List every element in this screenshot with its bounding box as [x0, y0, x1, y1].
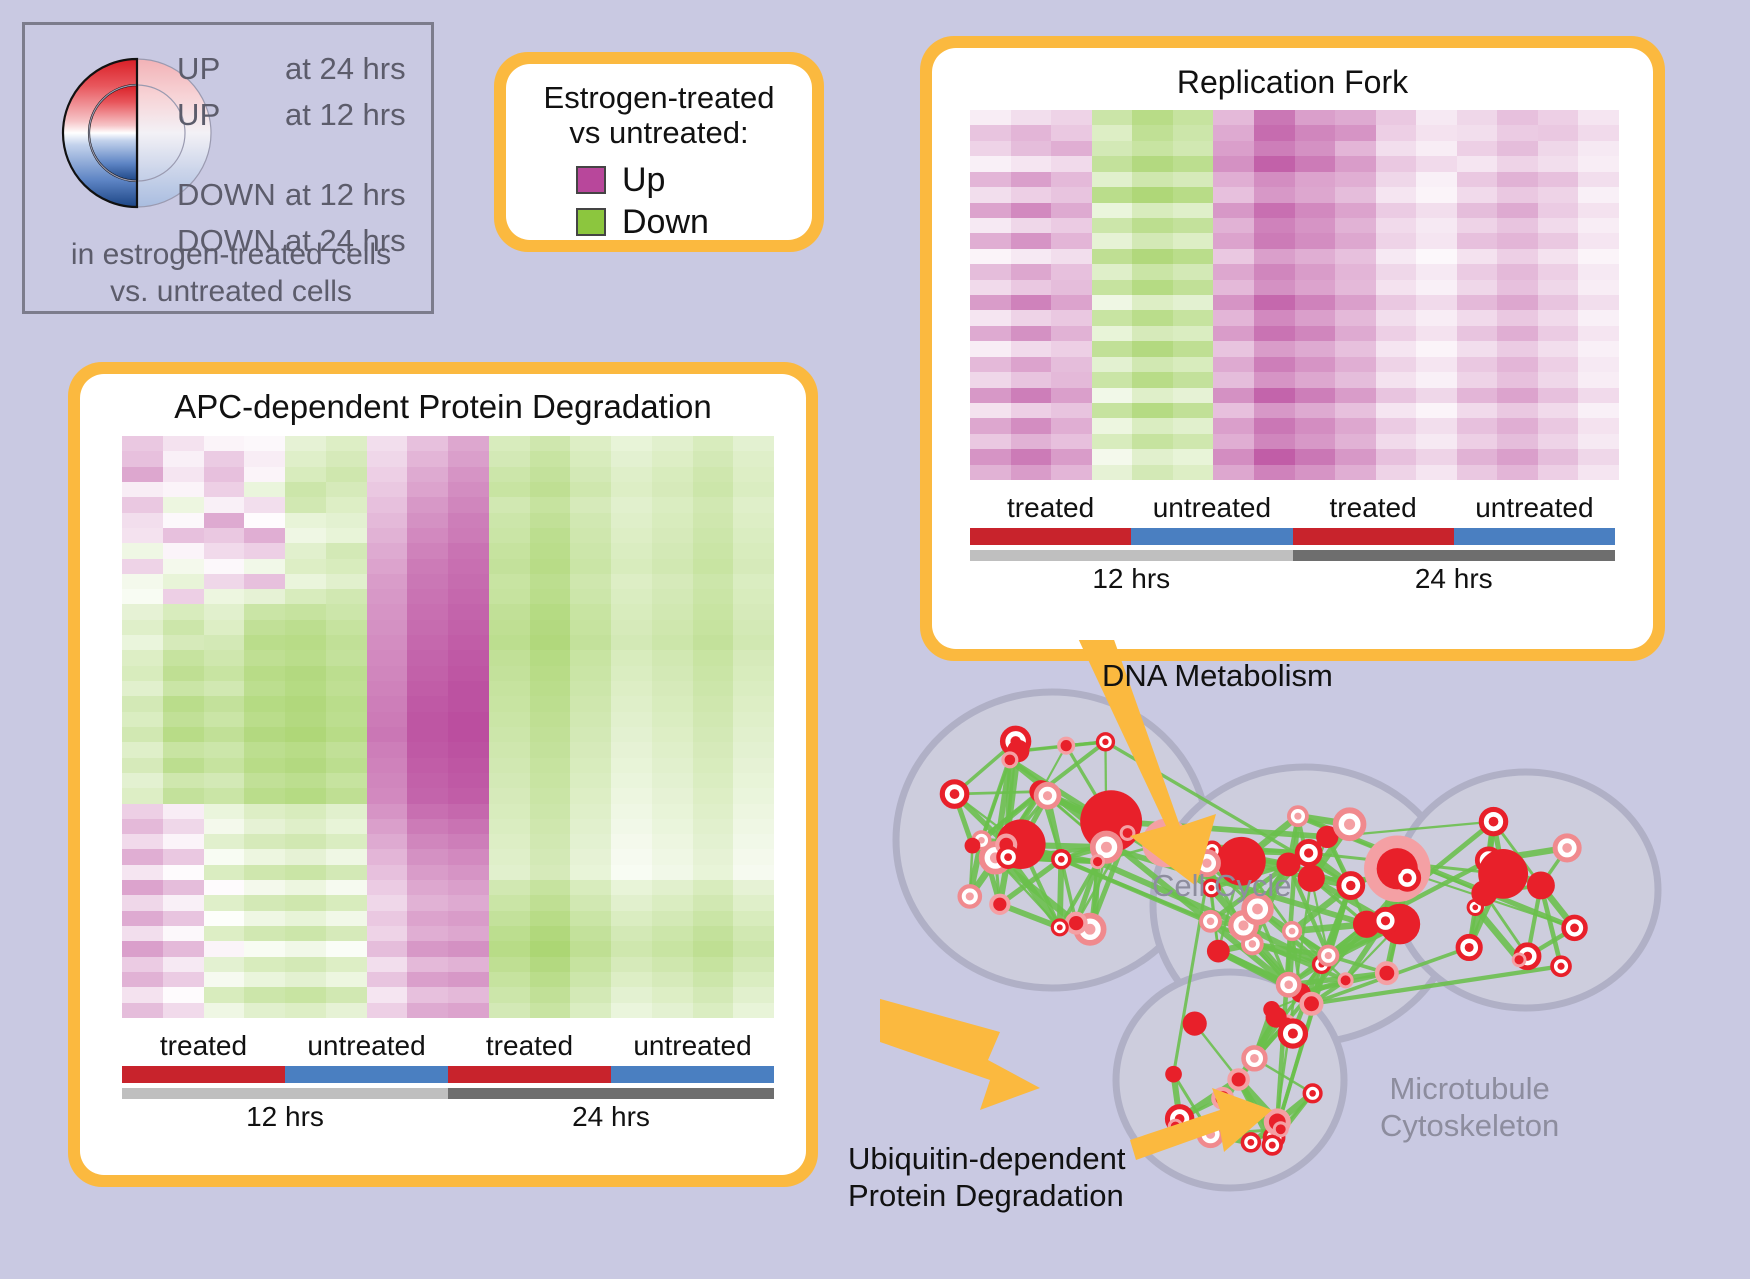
- network-node[interactable]: [1298, 865, 1325, 892]
- network-node-core: [1570, 924, 1579, 933]
- heatmap-cell: [326, 926, 367, 941]
- heatmap-cell: [970, 434, 1011, 449]
- heatmap-cell: [1213, 249, 1254, 264]
- heatmap-cell: [1254, 418, 1295, 433]
- network-node[interactable]: [1304, 996, 1319, 1011]
- heatmap-cell: [1538, 295, 1579, 310]
- heatmap-cell: [1092, 326, 1133, 341]
- heatmap-cell: [1578, 449, 1619, 464]
- heatmap-row: [970, 125, 1619, 140]
- replication-group-labels: treated untreated treated untreated: [970, 492, 1615, 524]
- heatmap-cell: [489, 451, 530, 466]
- heatmap-cell: [285, 804, 326, 819]
- heatmap-cell: [163, 972, 204, 987]
- heatmap-cell: [1497, 449, 1538, 464]
- heatmap-cell: [1254, 203, 1295, 218]
- heatmap-cell: [1335, 187, 1376, 202]
- heatmap-cell: [367, 666, 408, 681]
- heatmap-cell: [489, 834, 530, 849]
- heatmap-cell: [285, 482, 326, 497]
- heatmap-cell: [611, 635, 652, 650]
- heatmap-cell: [611, 482, 652, 497]
- network-node-core: [1247, 1139, 1254, 1146]
- heatmap-cell: [1376, 326, 1417, 341]
- heatmap-cell: [163, 941, 204, 956]
- network-node[interactable]: [1379, 966, 1394, 981]
- heatmap-cell: [244, 681, 285, 696]
- heatmap-cell: [1578, 203, 1619, 218]
- network-node-core: [1309, 1090, 1316, 1097]
- heatmap-cell: [1295, 233, 1336, 248]
- heatmap-cell: [530, 834, 571, 849]
- heatmap-cell: [448, 635, 489, 650]
- heatmap-cell: [1416, 218, 1457, 233]
- network-node[interactable]: [1061, 740, 1072, 751]
- heatmap-cell: [163, 666, 204, 681]
- heatmap-row: [970, 172, 1619, 187]
- heatmap-cell: [1538, 465, 1579, 480]
- heatmap-cell: [733, 482, 774, 497]
- heatmap-row: [970, 187, 1619, 202]
- heatmap-cell: [693, 758, 734, 773]
- network-node[interactable]: [1386, 860, 1403, 877]
- heatmap-cell: [733, 987, 774, 1002]
- heatmap-cell: [1132, 449, 1173, 464]
- cluster-label-dna-metabolism: DNA Metabolism: [1102, 658, 1333, 694]
- heatmap-cell: [1376, 403, 1417, 418]
- heatmap-cell: [1295, 434, 1336, 449]
- heatmap-cell: [652, 941, 693, 956]
- heatmap-cell: [1173, 434, 1214, 449]
- heatmap-cell: [693, 574, 734, 589]
- cluster-label-ubiquitin: Ubiquitin-dependent Protein Degradation: [848, 1140, 1126, 1214]
- heatmap-cell: [122, 926, 163, 941]
- network-node[interactable]: [1165, 1066, 1182, 1083]
- heatmap-cell: [122, 589, 163, 604]
- heatmap-cell: [1457, 326, 1498, 341]
- heatmap-cell: [1497, 125, 1538, 140]
- heatmap-cell: [611, 926, 652, 941]
- heatmap-cell: [285, 497, 326, 512]
- heatmap-cell: [570, 620, 611, 635]
- heatmap-cell: [652, 528, 693, 543]
- heatmap-cell: [448, 650, 489, 665]
- time-label-12: 12 hrs: [122, 1101, 448, 1133]
- heatmap-cell: [1132, 295, 1173, 310]
- heatmap-cell: [407, 895, 448, 910]
- heatmap-cell: [367, 972, 408, 987]
- heatmap-cell: [1578, 310, 1619, 325]
- heatmap-cell: [652, 895, 693, 910]
- heatmap-cell: [1173, 357, 1214, 372]
- heatmap-cell: [1254, 465, 1295, 480]
- heatmap-cell: [652, 804, 693, 819]
- heatmap-cell: [163, 482, 204, 497]
- heatmap-cell: [163, 574, 204, 589]
- heatmap-cell: [285, 834, 326, 849]
- heatmap-cell: [489, 712, 530, 727]
- heatmap-cell: [1376, 357, 1417, 372]
- heatmap-cell: [448, 742, 489, 757]
- heatmap-cell: [326, 513, 367, 528]
- network-node[interactable]: [1093, 857, 1102, 866]
- heatmap-cell: [489, 941, 530, 956]
- heatmap-cell: [285, 1003, 326, 1018]
- heatmap-cell: [204, 941, 245, 956]
- heatmap-cell: [244, 819, 285, 834]
- heatmap-cell: [1416, 249, 1457, 264]
- heatmap-cell: [122, 788, 163, 803]
- network-node-core: [1325, 952, 1332, 959]
- heatmap-cell: [1538, 110, 1579, 125]
- heatmap-cell: [652, 543, 693, 558]
- estrogen-legend-panel: Estrogen-treated vs untreated: Up Down: [494, 52, 824, 252]
- heatmap-cell: [122, 497, 163, 512]
- heatmap-cell: [1457, 434, 1498, 449]
- heatmap-cell: [1213, 125, 1254, 140]
- heatmap-cell: [367, 712, 408, 727]
- heatmap-cell: [1416, 403, 1457, 418]
- heatmap-cell: [1254, 372, 1295, 387]
- heatmap-cell: [367, 696, 408, 711]
- heatmap-row: [122, 620, 774, 635]
- heatmap-row: [122, 528, 774, 543]
- heatmap-cell: [970, 264, 1011, 279]
- heatmap-row: [122, 742, 774, 757]
- apc-treatment-bar: [122, 1066, 774, 1083]
- heatmap-cell: [1295, 156, 1336, 171]
- heatmap-cell: [204, 819, 245, 834]
- heatmap-cell: [611, 696, 652, 711]
- heatmap-cell: [163, 681, 204, 696]
- heatmap-cell: [163, 819, 204, 834]
- heatmap-cell: [1132, 156, 1173, 171]
- heatmap-cell: [407, 819, 448, 834]
- heatmap-cell: [326, 696, 367, 711]
- heatmap-cell: [570, 513, 611, 528]
- heatmap-cell: [204, 758, 245, 773]
- heatmap-cell: [1051, 465, 1092, 480]
- heatmap-cell: [611, 497, 652, 512]
- heatmap-cell: [1335, 249, 1376, 264]
- heatmap-cell: [244, 712, 285, 727]
- heatmap-cell: [1051, 295, 1092, 310]
- heatmap-cell: [733, 788, 774, 803]
- heatmap-cell: [1416, 449, 1457, 464]
- heatmap-cell: [970, 388, 1011, 403]
- heatmap-cell: [163, 528, 204, 543]
- heatmap-cell: [367, 727, 408, 742]
- heatmap-cell: [1213, 264, 1254, 279]
- heatmap-cell: [122, 467, 163, 482]
- heatmap-cell: [1578, 187, 1619, 202]
- heatmap-cell: [1011, 125, 1052, 140]
- heatmap-cell: [244, 804, 285, 819]
- network-node[interactable]: [993, 898, 1006, 911]
- heatmap-cell: [1173, 403, 1214, 418]
- heatmap-cell: [693, 788, 734, 803]
- heatmap-cell: [693, 819, 734, 834]
- heatmap-cell: [122, 451, 163, 466]
- heatmap-cell: [122, 482, 163, 497]
- heatmap-cell: [693, 926, 734, 941]
- heatmap-cell: [652, 865, 693, 880]
- heatmap-cell: [244, 635, 285, 650]
- heatmap-cell: [163, 727, 204, 742]
- pathway-network-diagram: DNA Metabolism Cell Cycle Microtubule Cy…: [880, 640, 1750, 1279]
- heatmap-cell: [733, 895, 774, 910]
- heatmap-cell: [570, 482, 611, 497]
- heatmap-cell: [693, 727, 734, 742]
- heatmap-cell: [244, 620, 285, 635]
- network-edge: [1060, 859, 1062, 927]
- heatmap-cell: [407, 865, 448, 880]
- heatmap-cell: [1051, 203, 1092, 218]
- heatmap-cell: [122, 727, 163, 742]
- heatmap-cell: [204, 880, 245, 895]
- heatmap-cell: [1173, 388, 1214, 403]
- heatmap-cell: [1051, 326, 1092, 341]
- heatmap-cell: [1376, 218, 1417, 233]
- heatmap-cell: [1254, 280, 1295, 295]
- heatmap-cell: [693, 911, 734, 926]
- figure-canvas: UP at 24 hrs UP at 12 hrs DOWN at 12 hrs…: [0, 0, 1750, 1279]
- heatmap-cell: [489, 681, 530, 696]
- bar-untreated-12: [285, 1066, 448, 1083]
- heatmap-cell: [1011, 187, 1052, 202]
- heatmap-cell: [1092, 233, 1133, 248]
- network-node[interactable]: [1527, 871, 1555, 899]
- bar-untreated-24: [611, 1066, 774, 1083]
- heatmap-cell: [407, 972, 448, 987]
- heatmap-cell: [489, 620, 530, 635]
- network-node[interactable]: [1471, 880, 1497, 906]
- heatmap-cell: [693, 451, 734, 466]
- heatmap-cell: [204, 834, 245, 849]
- heatmap-cell: [1457, 465, 1498, 480]
- heatmap-cell: [1132, 310, 1173, 325]
- heatmap-cell: [1254, 249, 1295, 264]
- heatmap-cell: [367, 987, 408, 1002]
- network-node-core: [1289, 928, 1296, 935]
- network-node[interactable]: [1341, 975, 1351, 985]
- network-node[interactable]: [1232, 1072, 1246, 1086]
- time-bar-24: [1293, 550, 1616, 561]
- network-node-core: [1294, 813, 1301, 820]
- heatmap-cell: [1011, 203, 1052, 218]
- heatmap-cell: [407, 727, 448, 742]
- group-label-untreated-24: untreated: [611, 1030, 774, 1062]
- network-node[interactable]: [1183, 1011, 1207, 1035]
- heatmap-cell: [530, 513, 571, 528]
- heatmap-cell: [326, 819, 367, 834]
- heatmap-cell: [244, 604, 285, 619]
- heatmap-row: [970, 218, 1619, 233]
- heatmap-cell: [1376, 187, 1417, 202]
- heatmap-cell: [1173, 372, 1214, 387]
- heatmap-cell: [489, 604, 530, 619]
- heatmap-cell: [530, 758, 571, 773]
- heatmap-cell: [204, 589, 245, 604]
- heatmap-cell: [1213, 203, 1254, 218]
- heatmap-cell: [489, 865, 530, 880]
- heatmap-cell: [652, 635, 693, 650]
- heatmap-cell: [1092, 264, 1133, 279]
- heatmap-cell: [244, 589, 285, 604]
- heatmap-row: [122, 589, 774, 604]
- heatmap-cell: [570, 880, 611, 895]
- heatmap-cell: [1457, 295, 1498, 310]
- heatmap-cell: [285, 635, 326, 650]
- heatmap-cell: [163, 849, 204, 864]
- network-node[interactable]: [1069, 916, 1083, 930]
- heatmap-cell: [652, 681, 693, 696]
- heatmap-cell: [1213, 465, 1254, 480]
- time-label-24: 24 hrs: [448, 1101, 774, 1133]
- heatmap-cell: [244, 650, 285, 665]
- heatmap-cell: [448, 482, 489, 497]
- network-node-core: [1101, 842, 1112, 853]
- heatmap-cell: [407, 482, 448, 497]
- heatmap-cell: [285, 543, 326, 558]
- heatmap-cell: [244, 941, 285, 956]
- network-node[interactable]: [1276, 1124, 1286, 1134]
- heatmap-cell: [326, 666, 367, 681]
- heatmap-cell: [244, 727, 285, 742]
- heatmap-cell: [1011, 141, 1052, 156]
- heatmap-cell: [693, 604, 734, 619]
- heatmap-cell: [1213, 326, 1254, 341]
- caption-line-2: vs. untreated cells: [25, 274, 437, 311]
- network-node-core: [1465, 943, 1474, 952]
- heatmap-cell: [407, 589, 448, 604]
- heatmap-cell: [693, 865, 734, 880]
- heatmap-cell: [489, 819, 530, 834]
- network-node[interactable]: [1515, 955, 1524, 964]
- heatmap-cell: [693, 528, 734, 543]
- heatmap-cell: [326, 589, 367, 604]
- heatmap-cell: [122, 696, 163, 711]
- heatmap-cell: [163, 589, 204, 604]
- heatmap-cell: [652, 727, 693, 742]
- heatmap-cell: [489, 880, 530, 895]
- network-node[interactable]: [965, 838, 981, 854]
- heatmap-cell: [407, 758, 448, 773]
- heatmap-cell: [285, 666, 326, 681]
- heatmap-cell: [163, 880, 204, 895]
- heatmap-cell: [1254, 434, 1295, 449]
- heatmap-cell: [163, 1003, 204, 1018]
- heatmap-cell: [652, 620, 693, 635]
- heatmap-cell: [489, 742, 530, 757]
- heatmap-cell: [1254, 357, 1295, 372]
- heatmap-cell: [570, 666, 611, 681]
- heatmap-cell: [1132, 372, 1173, 387]
- heatmap-cell: [1497, 403, 1538, 418]
- heatmap-cell: [1092, 434, 1133, 449]
- heatmap-cell: [1416, 125, 1457, 140]
- heatmap-cell: [367, 604, 408, 619]
- heatmap-cell: [570, 559, 611, 574]
- heatmap-cell: [733, 911, 774, 926]
- heatmap-row: [122, 788, 774, 803]
- heatmap-cell: [652, 957, 693, 972]
- heatmap-cell: [1538, 357, 1579, 372]
- heatmap-cell: [1213, 172, 1254, 187]
- heatmap-cell: [530, 972, 571, 987]
- heatmap-row: [122, 666, 774, 681]
- heatmap-cell: [1376, 372, 1417, 387]
- heatmap-cell: [1416, 295, 1457, 310]
- heatmap-cell: [1416, 110, 1457, 125]
- heatmap-cell: [1132, 280, 1173, 295]
- heatmap-cell: [407, 788, 448, 803]
- heatmap-cell: [1497, 110, 1538, 125]
- heatmap-cell: [285, 926, 326, 941]
- heatmap-cell: [1254, 326, 1295, 341]
- heatmap-cell: [1497, 187, 1538, 202]
- network-node[interactable]: [1207, 940, 1230, 963]
- heatmap-cell: [244, 849, 285, 864]
- network-node[interactable]: [1005, 755, 1016, 766]
- heatmap-cell: [1376, 418, 1417, 433]
- heatmap-cell: [611, 620, 652, 635]
- heatmap-cell: [204, 926, 245, 941]
- heatmap-cell: [1011, 465, 1052, 480]
- heatmap-cell: [733, 436, 774, 451]
- heatmap-cell: [1497, 156, 1538, 171]
- heatmap-cell: [652, 467, 693, 482]
- heatmap-cell: [448, 865, 489, 880]
- heatmap-cell: [204, 482, 245, 497]
- heatmap-cell: [611, 880, 652, 895]
- heatmap-cell: [1051, 310, 1092, 325]
- heatmap-cell: [1578, 326, 1619, 341]
- heatmap-cell: [1578, 172, 1619, 187]
- heatmap-cell: [367, 528, 408, 543]
- heatmap-cell: [570, 849, 611, 864]
- heatmap-cell: [448, 559, 489, 574]
- heatmap-cell: [407, 926, 448, 941]
- network-node-core: [1202, 859, 1211, 868]
- legend-item-down: Down: [576, 201, 798, 243]
- heatmap-cell: [1173, 264, 1214, 279]
- heatmap-row: [122, 543, 774, 558]
- heatmap-cell: [367, 804, 408, 819]
- colorwheel-caption: in estrogen-treated cells vs. untreated …: [25, 237, 437, 310]
- heatmap-cell: [367, 895, 408, 910]
- heatmap-cell: [489, 436, 530, 451]
- heatmap-cell: [1335, 141, 1376, 156]
- legend-direction: UP: [177, 51, 285, 87]
- heatmap-cell: [1092, 418, 1133, 433]
- heatmap-row: [122, 926, 774, 941]
- legend-time: at 12 hrs: [285, 97, 406, 133]
- heatmap-cell: [611, 543, 652, 558]
- heatmap-cell: [1416, 372, 1457, 387]
- heatmap-cell: [1173, 172, 1214, 187]
- heatmap-cell: [244, 926, 285, 941]
- heatmap-row: [970, 403, 1619, 418]
- heatmap-cell: [367, 1003, 408, 1018]
- heatmap-cell: [326, 543, 367, 558]
- heatmap-cell: [407, 620, 448, 635]
- heatmap-cell: [733, 666, 774, 681]
- heatmap-cell: [970, 187, 1011, 202]
- heatmap-cell: [407, 543, 448, 558]
- heatmap-cell: [1335, 341, 1376, 356]
- heatmap-cell: [570, 987, 611, 1002]
